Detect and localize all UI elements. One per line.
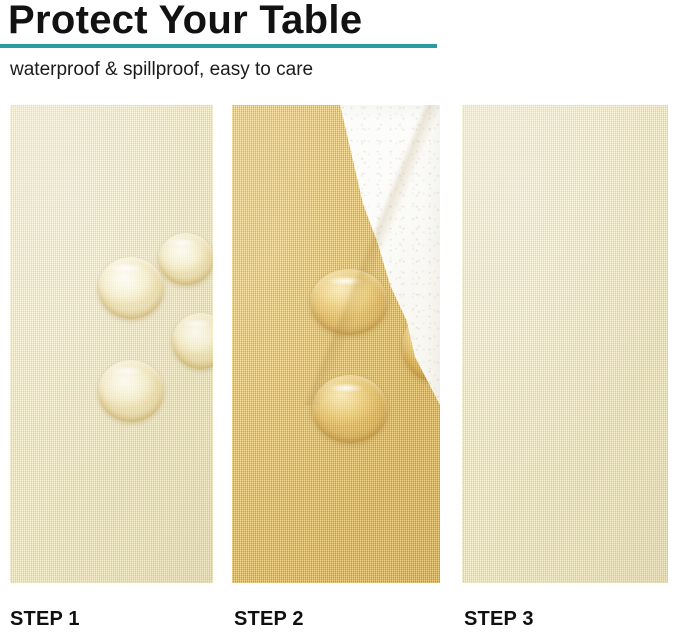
water-droplet [158, 233, 213, 285]
title-divider-rule [0, 44, 437, 48]
droplet-highlight [328, 383, 364, 393]
droplet-highlight [182, 319, 212, 328]
step-1-label: STEP 1 [10, 606, 80, 632]
step-3-label: STEP 3 [464, 606, 534, 632]
page-subtitle: waterproof & spillproof, easy to care [10, 57, 313, 83]
water-droplet [310, 269, 388, 335]
droplet-highlight [110, 366, 143, 376]
droplet-highlight [326, 276, 364, 286]
droplet-highlight [167, 238, 197, 247]
water-droplet [312, 375, 388, 443]
step-labels-row: STEP 1 STEP 2 STEP 3 [0, 606, 679, 635]
step-2-image [232, 105, 440, 583]
page-title: Protect Your Table [8, 0, 362, 43]
water-droplet [98, 257, 164, 319]
step-2-label: STEP 2 [234, 606, 304, 632]
step-image-panels [0, 105, 679, 583]
fabric-texture-pale [462, 105, 668, 583]
step-3-image [462, 105, 668, 583]
water-droplet [98, 360, 164, 422]
step-1-image [10, 105, 213, 583]
droplet-highlight [109, 263, 143, 273]
